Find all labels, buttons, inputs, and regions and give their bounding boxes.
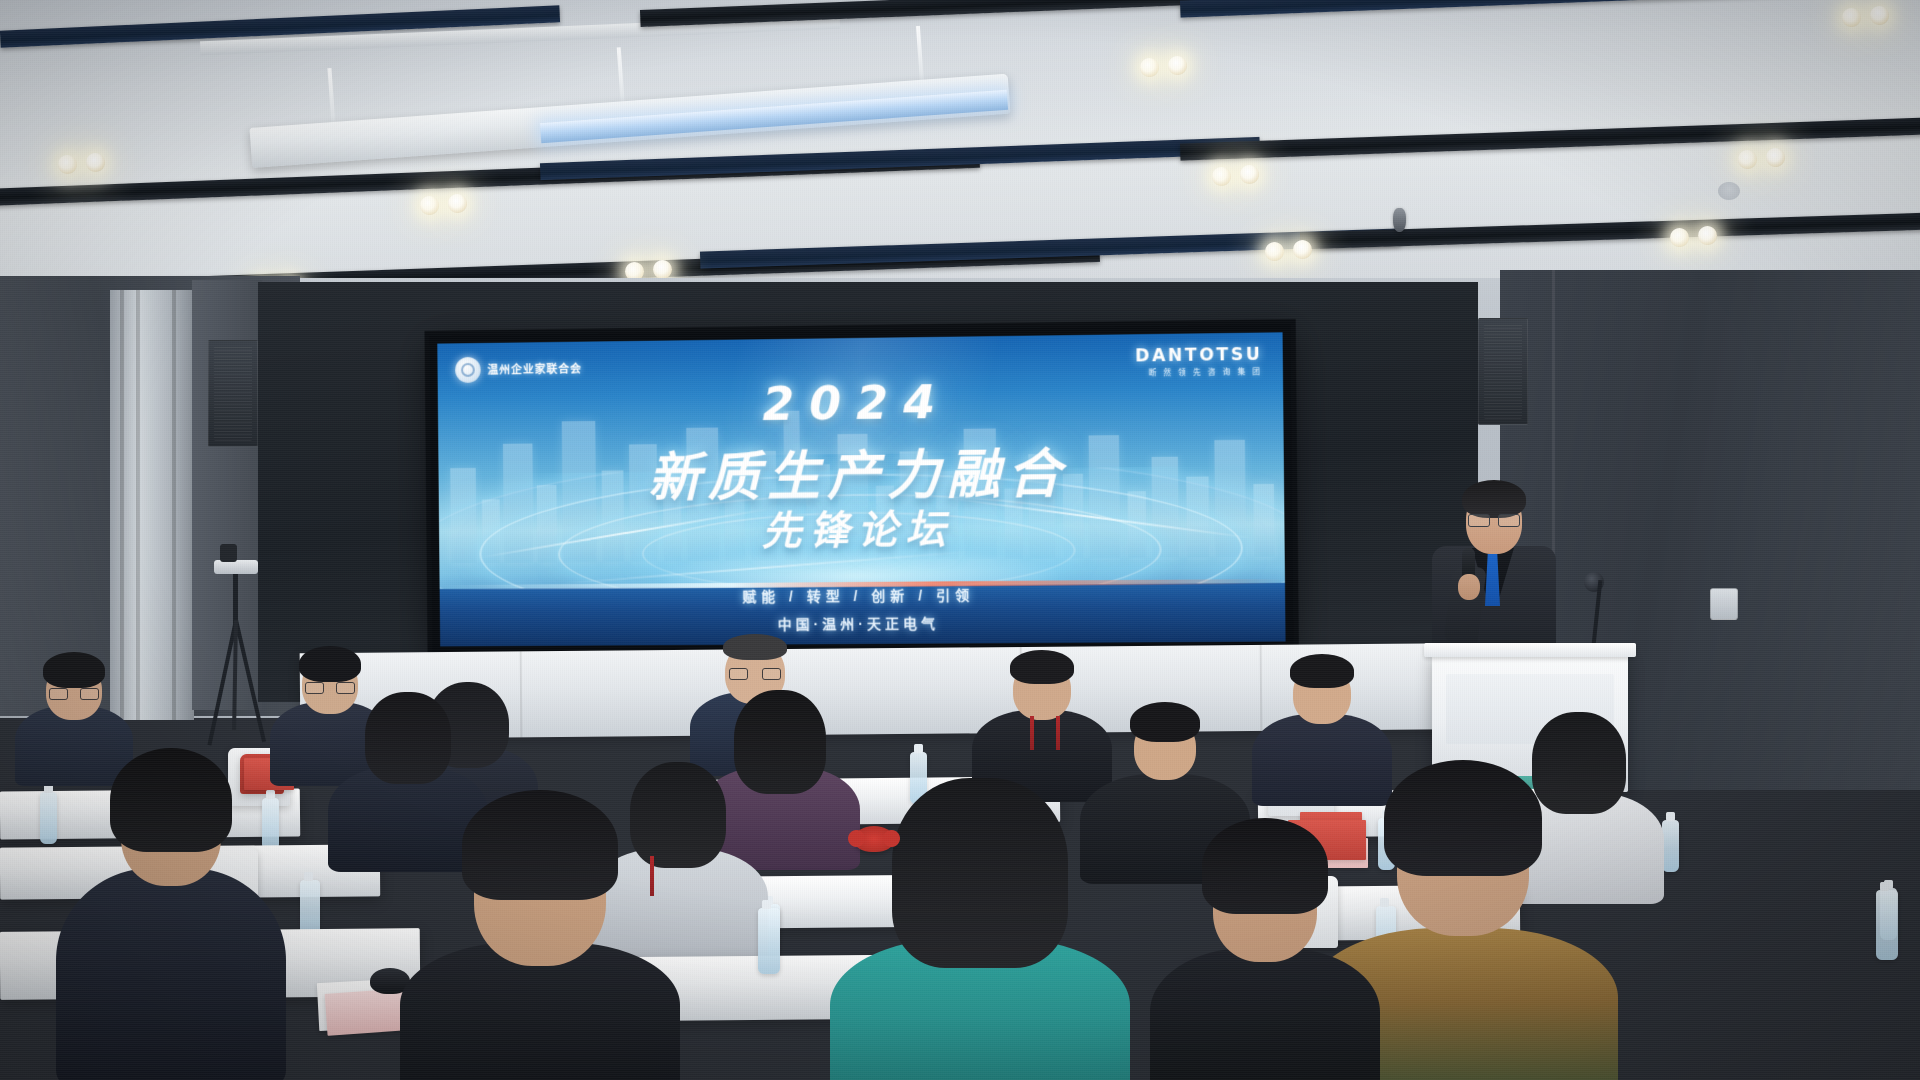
ceiling-spotlight [448,194,467,213]
audience-member [830,778,1130,1080]
tripod-camera-lens-icon [220,544,237,562]
ceiling-spotlight [1168,56,1187,75]
audience-member [400,790,680,1080]
tripod-leg [232,620,238,730]
conference-photo: 温州企业家联合会 DANTOTSU 断 然 领 先 咨 询 集 团 2024 新… [0,0,1920,1080]
ceiling [0,0,1920,300]
circle-emblem-icon [455,357,481,383]
wall-speaker-left [208,340,258,447]
organizer-logo-text: 温州企业家联合会 [487,361,582,378]
ceiling-spotlight [1738,150,1757,169]
ceiling-spotlight [653,260,672,279]
ceiling-spotlight [1240,165,1259,184]
lanyard [1030,716,1034,750]
lanyard [1056,716,1060,750]
ceiling-spotlight [1293,240,1312,259]
water-bottle[interactable] [40,792,57,844]
led-display-screen: 温州企业家联合会 DANTOTSU 断 然 领 先 咨 询 集 团 2024 新… [429,324,1293,654]
tripod-camera-icon [214,560,258,574]
wall-socket[interactable] [1710,588,1738,620]
ceiling-spotlight [1212,167,1231,186]
ceiling-spotlight [1265,242,1284,261]
camera-tripod [196,560,276,760]
ceiling-spotlight [1698,226,1717,245]
ceiling-spotlight [1140,58,1159,77]
tripod-column [233,574,238,624]
screen-title-sub: 先锋论坛 [439,494,1285,559]
ceiling-spotlight [420,196,439,215]
water-bottle[interactable] [758,908,780,974]
water-bottle[interactable] [1662,820,1679,872]
ceiling-spotlight [1870,6,1889,25]
eyeglasses-icon [1468,514,1520,525]
hair-bow [854,826,894,852]
ceiling-spotlight [1766,148,1785,167]
sponsor-brand-name: DANTOTSU [1135,345,1262,367]
audience-member [56,748,286,1080]
audience-member [1150,818,1380,1080]
water-bottle[interactable] [1876,890,1898,960]
ceiling-speaker-icon [1718,182,1740,200]
wall-speaker-right [1478,318,1528,425]
screen-year: 2024 [438,371,1284,435]
ceiling-sensor-icon [1393,208,1406,232]
presenter [1418,470,1568,670]
ceiling-spotlight [1842,8,1861,27]
tripod-leg [234,620,266,743]
ceiling-spotlight [86,153,105,172]
ceiling-spotlight [58,155,77,174]
ceiling-spotlight [1670,228,1689,247]
